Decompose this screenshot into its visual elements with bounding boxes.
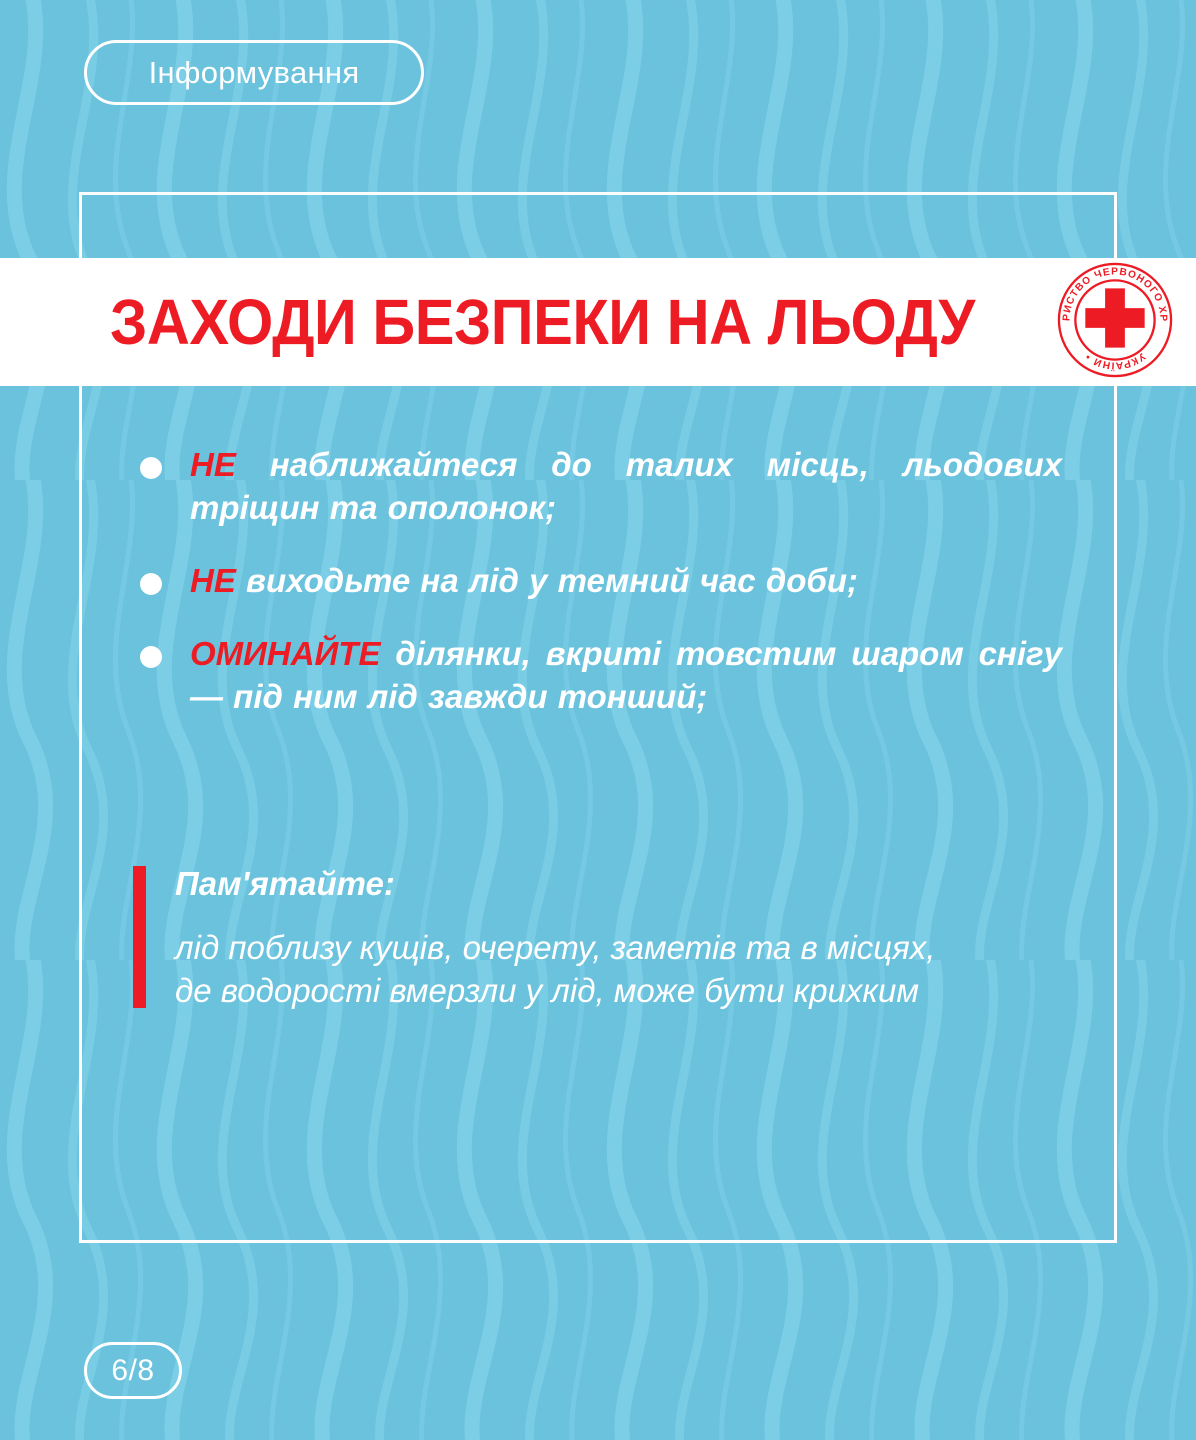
list-item-emphasis: ОМИНАЙТЕ (190, 635, 380, 672)
safety-list: НЕ наближайтеся до талих місць, льодових… (132, 443, 1062, 718)
list-item: ОМИНАЙТЕ ділянки, вкриті товстим шаром с… (132, 632, 1062, 718)
bullet-dot-icon (140, 457, 162, 479)
remember-callout: Пам'ятайте: лід поблизу кущів, очерету, … (133, 864, 1063, 1012)
remember-body-line: де водорості вмерзли у лід, може бути кр… (175, 969, 1063, 1012)
list-item: НЕ виходьте на лід у темний час доби; (132, 559, 1062, 602)
page-counter: 6/8 (84, 1342, 182, 1399)
red-cross-emblem-icon: ТОВАРИСТВО ЧЕРВОНОГО ХРЕСТА УКРАЇНИ • (1057, 262, 1173, 378)
list-item-emphasis: НЕ (190, 562, 236, 599)
topic-badge: Інформування (84, 40, 424, 105)
bullet-dot-icon (140, 573, 162, 595)
remember-body: лід поблизу кущів, очерету, заметів та в… (175, 926, 1063, 1012)
list-item-text: ОМИНАЙТЕ ділянки, вкриті товстим шаром с… (190, 632, 1062, 718)
topic-badge-label: Інформування (149, 55, 360, 91)
remember-body-line: лід поблизу кущів, очерету, заметів та в… (175, 926, 1063, 969)
list-item-text: НЕ виходьте на лід у темний час доби; (190, 559, 1062, 602)
bullet-dot-icon (140, 646, 162, 668)
page-counter-label: 6/8 (111, 1354, 154, 1388)
list-item-emphasis: НЕ (190, 446, 236, 483)
list-item-body: наближайтеся до талих місць, льодових тр… (190, 446, 1062, 526)
page-title: ЗАХОДИ БЕЗПЕКИ НА ЛЬОДУ (110, 290, 966, 354)
list-item-body: виходьте на лід у темний час доби; (236, 562, 858, 599)
remember-title: Пам'ятайте: (175, 864, 1063, 904)
title-band: ЗАХОДИ БЕЗПЕКИ НА ЛЬОДУ (0, 258, 1196, 386)
list-item: НЕ наближайтеся до талих місць, льодових… (132, 443, 1062, 529)
remember-accent-bar (133, 866, 146, 1008)
list-item-text: НЕ наближайтеся до талих місць, льодових… (190, 443, 1062, 529)
